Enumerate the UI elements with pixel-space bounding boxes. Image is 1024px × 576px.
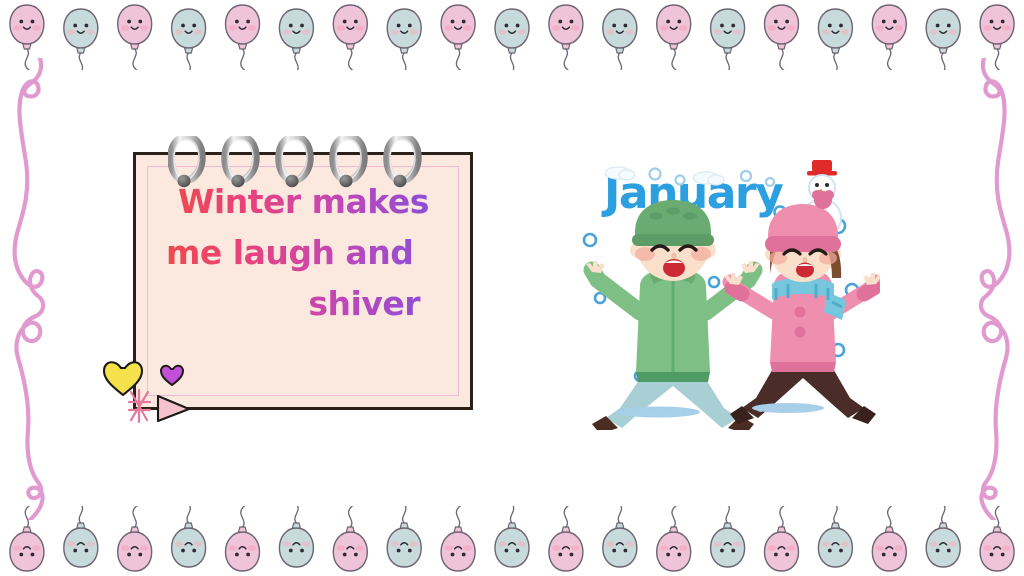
- balloon: [711, 506, 745, 567]
- balloon-string: [614, 53, 622, 70]
- quote-line-3: shiver: [156, 283, 454, 325]
- pink-triangle-arrow-icon: [158, 396, 189, 421]
- balloon: [495, 9, 529, 70]
- balloon-string: [398, 506, 406, 523]
- balloon-string: [564, 49, 572, 70]
- balloon-string: [937, 506, 945, 523]
- purple-heart-icon: [161, 366, 183, 385]
- balloon-border-bottom: [0, 506, 1024, 576]
- balloon-string: [241, 49, 249, 70]
- yellow-heart-icon: [104, 362, 142, 395]
- balloon: [64, 506, 98, 567]
- balloon-string: [672, 49, 680, 70]
- pink-scribble-icon: [129, 390, 150, 422]
- balloon-string: [937, 53, 945, 70]
- balloon: [279, 506, 313, 567]
- balloon: [441, 5, 475, 70]
- balloon: [387, 506, 421, 567]
- balloon-string: [722, 53, 730, 70]
- balloon-string: [75, 53, 83, 70]
- balloon-string: [506, 53, 514, 70]
- balloon-string: [241, 506, 249, 527]
- balloon-string: [780, 49, 788, 70]
- balloon-string: [888, 49, 896, 70]
- balloon: [226, 5, 260, 70]
- spiral-binding: [168, 136, 428, 192]
- balloon-string: [290, 506, 298, 523]
- balloon: [495, 506, 529, 567]
- balloon: [872, 5, 906, 70]
- balloon: [818, 9, 852, 70]
- balloon-string: [183, 506, 191, 523]
- balloon-string: [888, 506, 896, 527]
- balloon-string: [349, 506, 357, 527]
- balloon-string: [75, 506, 83, 523]
- balloon: [172, 9, 206, 70]
- spiral-ring: [225, 137, 256, 187]
- balloon: [279, 9, 313, 70]
- squiggle-left: [0, 58, 64, 520]
- balloon: [603, 9, 637, 70]
- balloon-string: [290, 53, 298, 70]
- balloon: [441, 506, 475, 571]
- slide-canvas: Winter makes me laugh and shiver: [0, 0, 1024, 576]
- balloon-string: [780, 506, 788, 527]
- balloon: [172, 506, 206, 567]
- balloon: [226, 506, 260, 571]
- balloon: [818, 506, 852, 567]
- balloon-string: [672, 506, 680, 527]
- balloon: [657, 506, 691, 571]
- squiggle-right: [960, 58, 1024, 520]
- winter-kids-illustration: [580, 150, 880, 430]
- balloon-string: [829, 53, 837, 70]
- balloon-string: [398, 53, 406, 70]
- balloon-string: [349, 49, 357, 70]
- balloon: [118, 5, 152, 70]
- spiral-ring: [171, 137, 202, 187]
- balloon: [118, 506, 152, 571]
- spiral-ring: [333, 137, 364, 187]
- balloon-string: [456, 506, 464, 527]
- balloon-string: [133, 506, 141, 527]
- balloon-string: [564, 506, 572, 527]
- balloon-border-top: [0, 0, 1024, 70]
- balloon: [549, 506, 583, 571]
- spiral-ring: [387, 137, 418, 187]
- balloon: [657, 5, 691, 70]
- balloon: [711, 9, 745, 70]
- balloon: [926, 506, 960, 567]
- girl-figure: [724, 190, 880, 424]
- spiral-ring: [279, 137, 310, 187]
- balloon: [872, 506, 906, 571]
- balloon: [333, 506, 367, 571]
- balloon: [765, 506, 799, 571]
- quote-line-2: me laugh and: [156, 232, 454, 274]
- balloon-string: [722, 506, 730, 523]
- balloon: [926, 9, 960, 70]
- balloon: [603, 506, 637, 567]
- balloon: [765, 5, 799, 70]
- notepad-quote: Winter makes me laugh and shiver: [156, 181, 454, 334]
- balloon-string: [456, 49, 464, 70]
- balloon-string: [133, 49, 141, 70]
- balloon-string: [506, 506, 514, 523]
- balloon: [549, 5, 583, 70]
- balloon: [64, 9, 98, 70]
- balloon: [387, 9, 421, 70]
- balloon: [333, 5, 367, 70]
- balloon-string: [614, 506, 622, 523]
- boy-figure: [586, 200, 760, 430]
- balloon-string: [183, 53, 191, 70]
- doodle-group: [103, 352, 228, 424]
- balloon-string: [829, 506, 837, 523]
